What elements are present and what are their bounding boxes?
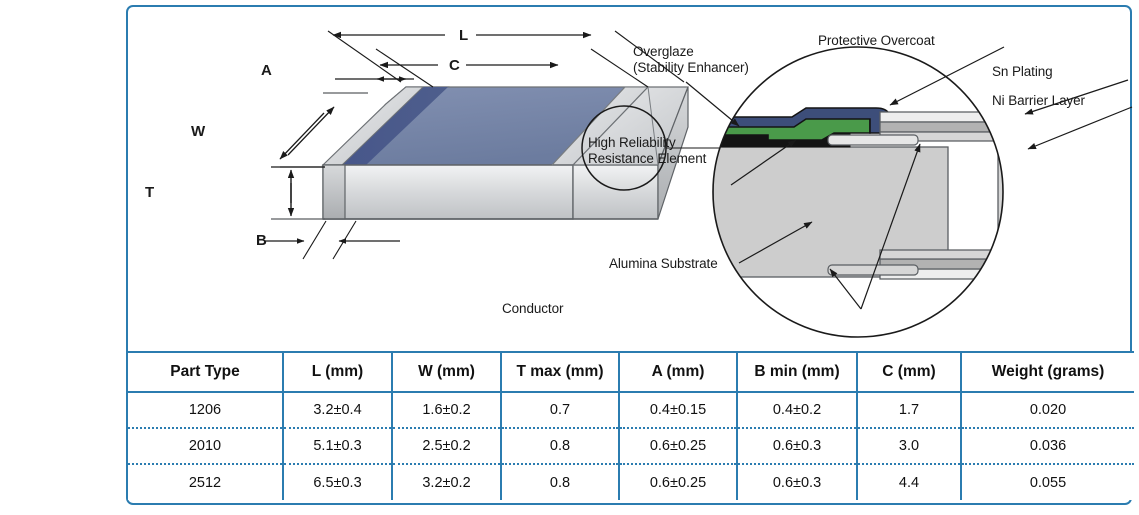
leader-B-right <box>333 221 356 259</box>
table-header-row: Part Type L (mm) W (mm) T max (mm) A (mm… <box>128 352 1134 392</box>
table-cell: 0.8 <box>501 464 619 500</box>
callout-alumina-substrate-line1: Alumina Substrate <box>609 256 718 271</box>
table-cell: 0.4±0.15 <box>619 392 737 428</box>
callout-resistance-element-line2: Resistance Element <box>588 151 706 166</box>
table-cell: 2010 <box>128 428 283 464</box>
leader-C-left <box>376 49 433 87</box>
dim-W-arrow-up <box>288 107 334 155</box>
table-header-cell: T max (mm) <box>501 352 619 392</box>
callout-sn-plating: Sn Plating <box>992 64 1053 80</box>
chip-resistor-diagram: L C A W T B Overglaze (Stability Enhance… <box>128 7 1134 351</box>
callout-protective-overcoat: Protective Overcoat <box>818 33 935 49</box>
leader-L-left <box>328 31 401 82</box>
callout-ni-barrier-layer-line1: Ni Barrier Layer <box>992 93 1085 108</box>
table-cell: 0.6±0.25 <box>619 464 737 500</box>
table-cell: 0.6±0.3 <box>737 428 857 464</box>
table-cell: 5.1±0.3 <box>283 428 392 464</box>
table-cell: 2512 <box>128 464 283 500</box>
dimension-label-T: T <box>145 184 154 201</box>
figure-frame: L C A W T B Overglaze (Stability Enhance… <box>126 5 1132 505</box>
table-header-cell: L (mm) <box>283 352 392 392</box>
table-cell: 3.2±0.4 <box>283 392 392 428</box>
table-cell: 6.5±0.3 <box>283 464 392 500</box>
dimension-label-C: C <box>449 57 460 74</box>
table-header-cell: W (mm) <box>392 352 501 392</box>
leader-overglaze <box>686 82 739 126</box>
left-termination-front <box>323 165 345 219</box>
conductor-top-pad <box>828 135 918 145</box>
table-cell: 0.6±0.25 <box>619 428 737 464</box>
table-row: 2512 6.5±0.3 3.2±0.2 0.8 0.6±0.25 0.6±0.… <box>128 464 1134 500</box>
callout-ni-barrier-layer: Ni Barrier Layer <box>992 93 1085 109</box>
table-row: 2010 5.1±0.3 2.5±0.2 0.8 0.6±0.25 0.6±0.… <box>128 428 1134 464</box>
table-cell: 0.020 <box>961 392 1134 428</box>
leader-B-left <box>303 221 326 259</box>
table-header-cell: A (mm) <box>619 352 737 392</box>
table-header-cell: B min (mm) <box>737 352 857 392</box>
table-cell: 0.8 <box>501 428 619 464</box>
callout-overglaze-line1: Overglaze <box>633 44 694 59</box>
right-arm-front <box>573 165 658 219</box>
table-row: 1206 3.2±0.4 1.6±0.2 0.7 0.4±0.15 0.4±0.… <box>128 392 1134 428</box>
callout-overglaze-line2: (Stability Enhancer) <box>633 60 749 75</box>
dimension-label-A: A <box>261 62 272 79</box>
table-cell: 0.6±0.3 <box>737 464 857 500</box>
callout-conductor-line1: Conductor <box>502 301 563 316</box>
callout-sn-plating-line1: Sn Plating <box>992 64 1053 79</box>
table-header-cell: C (mm) <box>857 352 961 392</box>
dim-W-arrow-down <box>280 113 324 159</box>
callout-overglaze: Overglaze (Stability Enhancer) <box>633 44 749 75</box>
table-cell: 0.7 <box>501 392 619 428</box>
table-header-cell: Part Type <box>128 352 283 392</box>
table-cell: 0.036 <box>961 428 1134 464</box>
figure-root: L C A W T B Overglaze (Stability Enhance… <box>0 0 1139 515</box>
chip-front-face <box>323 165 573 219</box>
table-cell: 4.4 <box>857 464 961 500</box>
callout-alumina-substrate: Alumina Substrate <box>609 256 718 272</box>
table-cell: 1.6±0.2 <box>392 392 501 428</box>
dimension-label-B: B <box>256 232 267 249</box>
dimension-label-L: L <box>459 27 468 44</box>
table-cell: 0.055 <box>961 464 1134 500</box>
table-cell: 0.4±0.2 <box>737 392 857 428</box>
callout-conductor: Conductor <box>502 301 563 317</box>
cross-section-detail-view <box>713 47 1022 337</box>
table-header-cell: Weight (grams) <box>961 352 1134 392</box>
table-cell: 1.7 <box>857 392 961 428</box>
table-cell: 3.0 <box>857 428 961 464</box>
callout-resistance-element: High Reliability Resistance Element <box>588 135 706 166</box>
table-cell: 2.5±0.2 <box>392 428 501 464</box>
table-cell: 3.2±0.2 <box>392 464 501 500</box>
dimensions-table: Part Type L (mm) W (mm) T max (mm) A (mm… <box>128 351 1134 500</box>
dimension-label-W: W <box>191 123 205 140</box>
callout-resistance-element-line1: High Reliability <box>588 135 676 150</box>
diagram-svg <box>128 7 1134 351</box>
callout-protective-overcoat-line1: Protective Overcoat <box>818 33 935 48</box>
table-cell: 1206 <box>128 392 283 428</box>
leader-ni-barrier <box>1028 107 1132 149</box>
conductor-bottom-pad <box>828 265 918 275</box>
